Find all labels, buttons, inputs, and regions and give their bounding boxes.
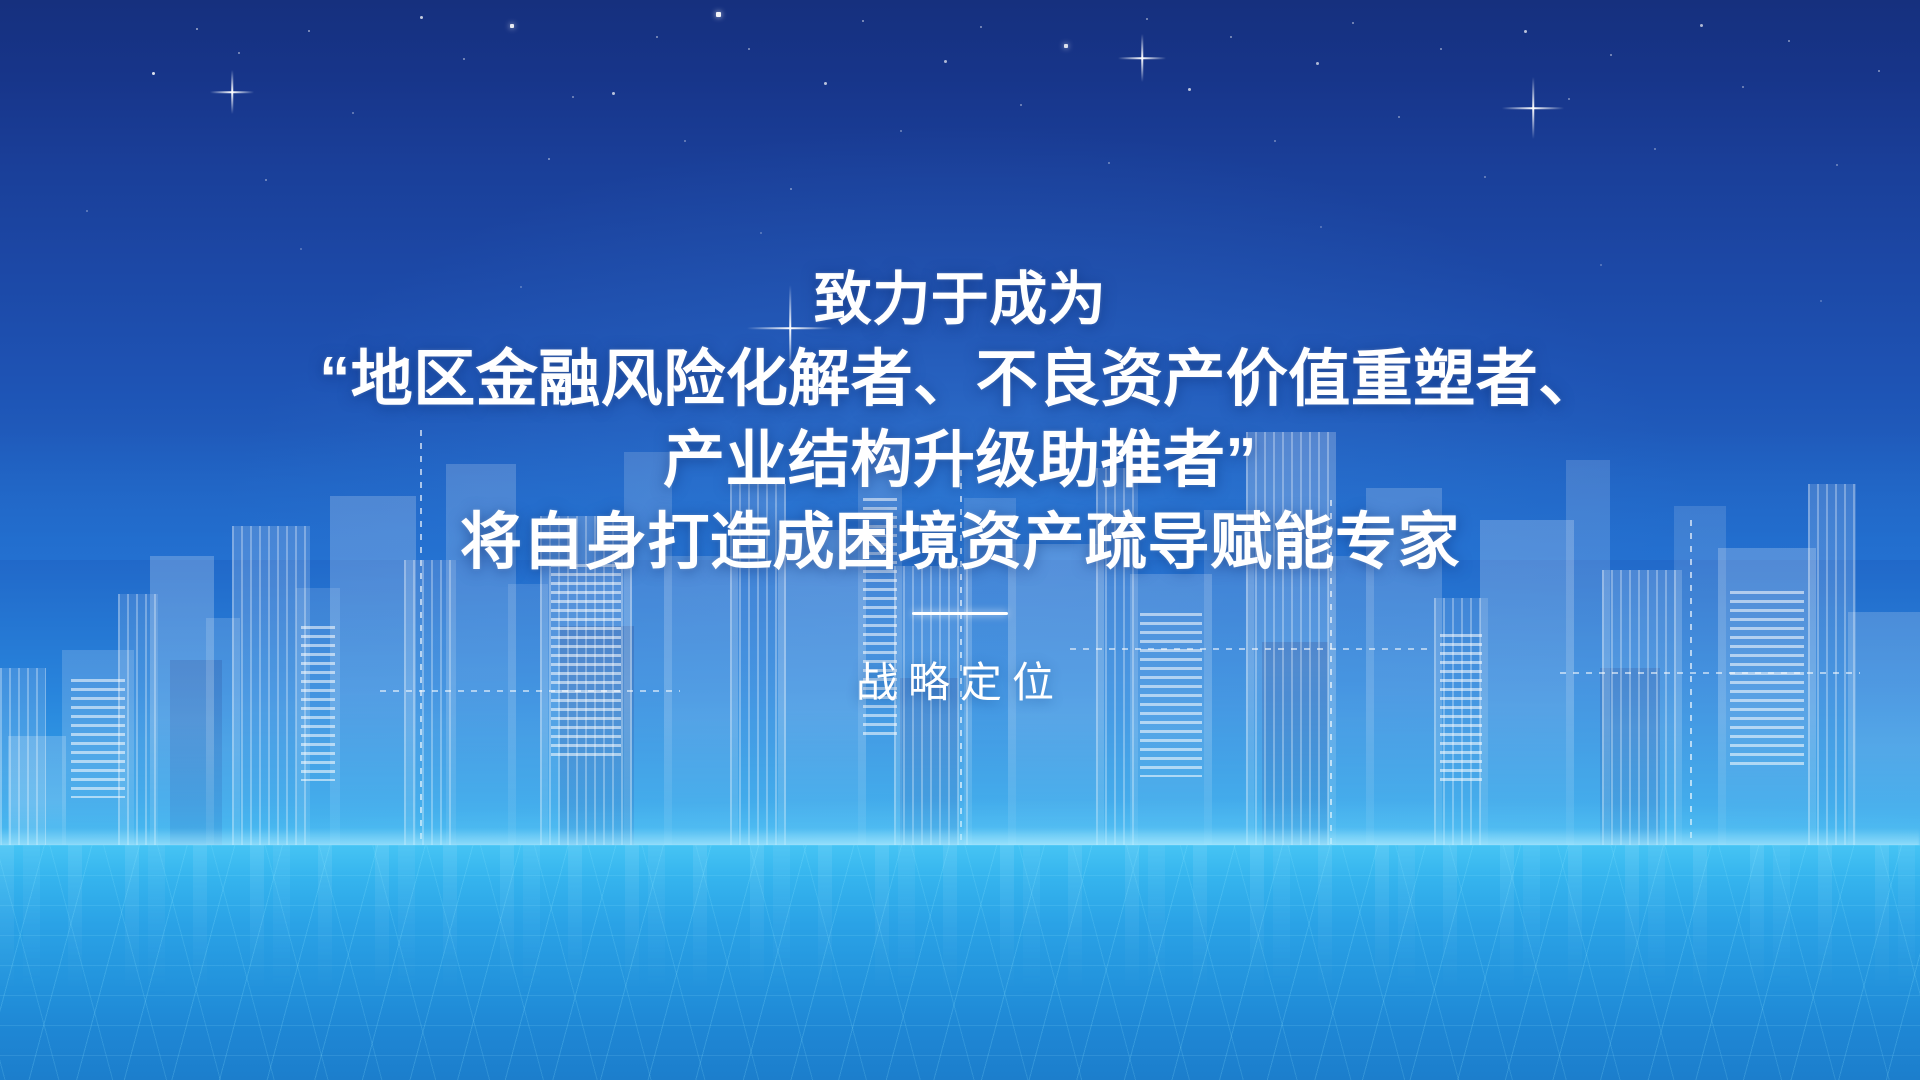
headline-line-2: “地区金融风险化解者、不良资产价值重塑者、 [0, 339, 1920, 421]
headline-line-1: 致力于成为 [0, 262, 1920, 339]
title-divider [912, 612, 1008, 615]
slide-canvas: 致力于成为 “地区金融风险化解者、不良资产价值重塑者、 产业结构升级助推者” 将… [0, 0, 1920, 1080]
slide-content: 致力于成为 “地区金融风险化解者、不良资产价值重塑者、 产业结构升级助推者” 将… [0, 0, 1920, 1080]
subtitle-label: 战略定位 [856, 649, 1064, 710]
headline-line-4: 将自身打造成困境资产疏导赋能专家 [0, 502, 1920, 584]
headline-block: 致力于成为 “地区金融风险化解者、不良资产价值重塑者、 产业结构升级助推者” 将… [0, 262, 1920, 584]
headline-line-3: 产业结构升级助推者” [0, 420, 1920, 502]
